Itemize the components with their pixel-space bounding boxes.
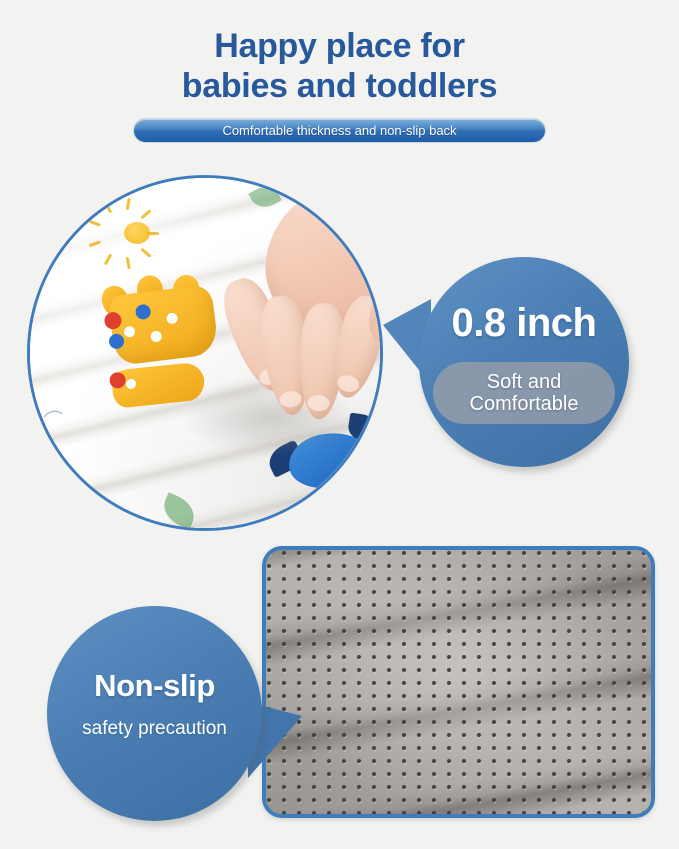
headline-line-1: Happy place for — [214, 27, 465, 65]
page-title: Happy place for babies and toddlers — [0, 26, 679, 106]
nonslip-callout-bubble: Non-slip safety precaution — [47, 606, 262, 821]
soft-comfortable-pill: Soft andComfortable — [433, 362, 615, 424]
nonslip-dot-grips — [266, 550, 651, 814]
headline-line-2: babies and toddlers — [0, 66, 679, 106]
marketing-image: Happy place for babies and toddlers Comf… — [0, 0, 679, 849]
thickness-value: 0.8 inch — [419, 301, 629, 346]
hand-pressing-illustration — [197, 176, 383, 427]
sun-motif-icon — [106, 212, 168, 258]
photo-content: ~⌒ ✎ ⌄ — [30, 178, 380, 528]
soft-comfortable-label: Soft andComfortable — [470, 371, 579, 416]
doodle-motif-icon: ~⌒ — [31, 400, 85, 448]
subtitle-banner-label: Comfortable thickness and non-slip back — [222, 123, 456, 138]
nonslip-subtitle: safety precaution — [47, 718, 262, 740]
subtitle-banner: Comfortable thickness and non-slip back — [133, 118, 546, 143]
thickness-callout-bubble: 0.8 inch Soft andComfortable — [419, 257, 629, 467]
nonslip-backing-photo — [262, 546, 655, 818]
bubble-body — [47, 606, 262, 821]
pill-line-2: Comfortable — [470, 393, 579, 415]
mattress-thickness-photo: ~⌒ ✎ ⌄ — [27, 175, 383, 531]
pill-line-1: Soft and — [487, 371, 562, 393]
nonslip-title: Non-slip — [47, 668, 262, 704]
